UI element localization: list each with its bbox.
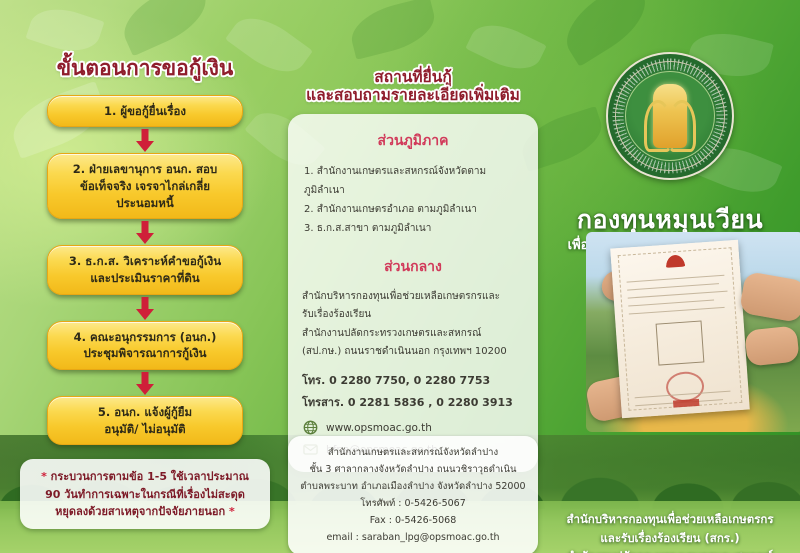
provincial-office-fax: Fax : 0-5426-5068: [296, 513, 530, 530]
process-duration-note: * กระบวนการตามข้อ 1-5 ใช้เวลาประมาณ 90 ว…: [20, 459, 270, 528]
deed-plot-diagram: [656, 320, 705, 365]
where-to-apply-column: สถานที่ยื่นกู้ และสอบถามรายละเอียดเพิ่มเ…: [288, 68, 538, 472]
hands-holding-land-deed-photo: [586, 232, 800, 432]
where-to-apply-title-line2: และสอบถามรายละเอียดเพิ่มเติม: [288, 86, 538, 104]
where-to-apply-title-line1: สถานที่ยื่นกู้: [288, 68, 538, 86]
hand-icon: [739, 271, 800, 323]
hand-icon: [744, 325, 799, 366]
provincial-office-email[interactable]: email : saraban_lpg@opsmoac.go.th: [296, 530, 530, 547]
note-asterisk-leading: *: [41, 470, 47, 483]
flow-step-1[interactable]: 1. ผู้ขอกู้ยื่นเรื่อง: [47, 95, 243, 128]
contact-card: ส่วนภูมิภาค 1. สำนักงานเกษตรและสหกรณ์จัง…: [288, 114, 538, 472]
regional-office-list: 1. สำนักงานเกษตรและสหกรณ์จังหวัดตามภูมิล…: [302, 162, 524, 238]
flow-step-4[interactable]: 4. คณะอนุกรรมการ (อนก.) ประชุมพิจารณาการ…: [47, 321, 243, 370]
website-row[interactable]: www.opsmoac.go.th: [302, 420, 524, 436]
flow-step-5[interactable]: 5. อนก. แจ้งผู้กู้ยืม อนุมัติ/ ไม่อนุมัต…: [47, 396, 243, 445]
note-asterisk-trailing: *: [229, 505, 235, 518]
flow-arrow-icon: [14, 295, 276, 321]
provincial-office-line: ตำบลพระบาท อำเภอเมืองลำปาง จังหวัดลำปาง …: [296, 479, 530, 496]
provincial-office-line: ชั้น 3 ศาลากลางจังหวัดลำปาง ถนนวชิราวุธด…: [296, 462, 530, 479]
flow-step-3[interactable]: 3. ธ.ก.ส. วิเคราะห์คำขอกู้เงิน และประเมิ…: [47, 245, 243, 294]
central-address-line: สำนักบริหารกองทุนเพื่อช่วยเหลือเกษตรกรแล…: [302, 288, 524, 307]
organisation-footer-line: สำนักงานปลัดกระทรวงเกษตรและสหกรณ์: [540, 547, 800, 553]
central-fax: โทรสาร. 0 2281 5836 , 0 2280 3913: [302, 392, 524, 414]
central-address: สำนักบริหารกองทุนเพื่อช่วยเหลือเกษตรกรแล…: [302, 288, 524, 362]
deed-red-stamp: [673, 399, 699, 408]
garuda-emblem-icon: [664, 252, 687, 268]
flow-arrow-icon: [14, 219, 276, 245]
provincial-office-line: สำนักงานเกษตรและสหกรณ์จังหวัดลำปาง: [296, 445, 530, 462]
emblem-inner-disc: [625, 71, 715, 161]
process-duration-note-text: กระบวนการตามข้อ 1-5 ใช้เวลาประมาณ 90 วัน…: [45, 470, 249, 517]
central-section-heading: ส่วนกลาง: [302, 256, 524, 278]
leaf-decoration: [346, 0, 440, 60]
globe-icon: [302, 420, 318, 436]
leaf-decoration: [554, 0, 657, 67]
list-item: 2. สำนักงานเกษตรอำเภอ ตามภูมิลำเนา: [302, 200, 524, 219]
central-phone: โทร. 0 2280 7750, 0 2280 7753: [302, 370, 524, 392]
flow-step-2[interactable]: 2. ฝ่ายเลขานุการ อนก. สอบ ข้อเท็จจริง เจ…: [47, 153, 243, 219]
loan-process-column: ขั้นตอนการขอกู้เงิน 1. ผู้ขอกู้ยื่นเรื่อ…: [14, 56, 276, 529]
regional-section-heading: ส่วนภูมิภาค: [302, 130, 524, 152]
loan-process-title: ขั้นตอนการขอกู้เงิน: [14, 56, 276, 81]
where-to-apply-title: สถานที่ยื่นกู้ และสอบถามรายละเอียดเพิ่มเ…: [288, 68, 538, 105]
provincial-office-card: สำนักงานเกษตรและสหกรณ์จังหวัดลำปาง ชั้น …: [288, 436, 538, 553]
land-title-deed-document: [610, 240, 750, 419]
list-item: 1. สำนักงานเกษตรและสหกรณ์จังหวัดตามภูมิล…: [302, 162, 524, 200]
list-item: 3. ธ.ก.ส.สาขา ตามภูมิลำเนา: [302, 219, 524, 238]
poster-canvas: ขั้นตอนการขอกู้เงิน 1. ผู้ขอกู้ยื่นเรื่อ…: [0, 0, 800, 553]
provincial-office-phone: โทรศัพท์ : 0-5426-5067: [296, 496, 530, 513]
flow-arrow-icon: [14, 370, 276, 396]
organisation-footer-line: และรับเรื่องร้องเรียน (สกร.): [540, 529, 800, 548]
leaf-decoration: [115, 0, 216, 56]
organisation-footer-line: สำนักบริหารกองทุนเพื่อช่วยเหลือเกษตรกร: [540, 510, 800, 529]
flow-arrow-icon: [14, 127, 276, 153]
central-address-line: (สป.กษ.) ถนนราชดำเนินนอก กรุงเทพฯ 10200: [302, 343, 524, 362]
central-address-line: รับเรื่องร้องเรียน: [302, 306, 524, 325]
leaf-decoration: [26, 0, 105, 60]
central-address-line: สำนักงานปลัดกระทรวงเกษตรและสหกรณ์: [302, 325, 524, 344]
naga-right-icon: [668, 100, 696, 152]
ministry-emblem-icon: [606, 52, 734, 180]
website-url[interactable]: www.opsmoac.go.th: [326, 422, 432, 434]
organisation-footer: สำนักบริหารกองทุนเพื่อช่วยเหลือเกษตรกร แ…: [540, 510, 800, 553]
